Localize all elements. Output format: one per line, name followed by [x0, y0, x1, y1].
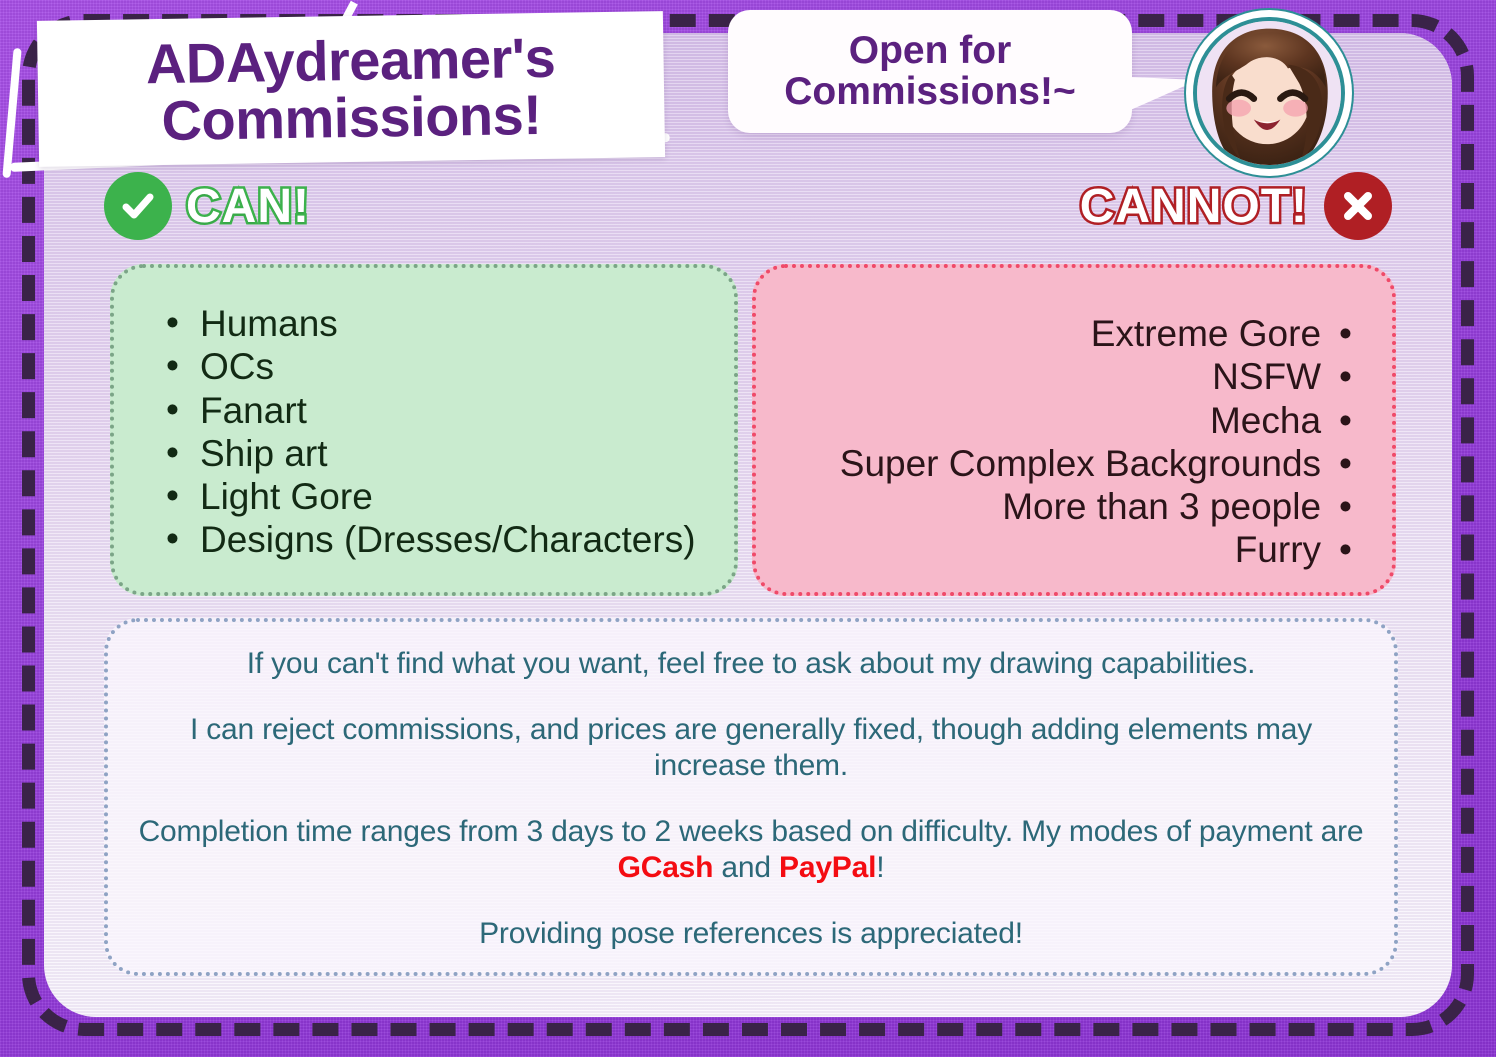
can-section-header: CAN! [104, 172, 310, 240]
list-item: OCs [156, 345, 734, 388]
page-title-line-2: Commissions! [146, 86, 556, 150]
page-title: ADAydreamer's Commissions! [145, 29, 556, 150]
speech-bubble-tail [1108, 76, 1198, 120]
list-item: Humans [156, 302, 734, 345]
list-item: Ship art [156, 432, 734, 475]
title-banner: ADAydreamer's Commissions! [37, 11, 665, 167]
list-item: NSFW [756, 355, 1352, 398]
cannot-list: Extreme Gore NSFW Mecha Super Complex Ba… [756, 312, 1352, 572]
note-payment: Completion time ranges from 3 days to 2 … [134, 814, 1368, 886]
list-item: Fanart [156, 389, 734, 432]
note-references: Providing pose references is appreciated… [134, 916, 1368, 952]
note-availability: If you can't find what you want, feel fr… [134, 646, 1368, 682]
note-payment-part-2: and [713, 851, 779, 884]
list-item: Designs (Dresses/Characters) [156, 518, 734, 561]
payment-method-paypal: PayPal [779, 851, 876, 884]
commission-sheet: ADAydreamer's Commissions! Open for Comm… [0, 0, 1496, 1057]
note-payment-part-3: ! [876, 851, 884, 884]
status-speech-bubble: Open for Commissions!~ [728, 10, 1132, 133]
cannot-section-header: CANNOT! [1080, 172, 1392, 240]
can-header-label: CAN! [186, 179, 310, 234]
can-list: Humans OCs Fanart Ship art Light Gore De… [156, 302, 734, 562]
list-item: Mecha [756, 399, 1352, 442]
list-item: Furry [756, 528, 1352, 571]
check-circle-icon [104, 172, 172, 240]
list-item: Extreme Gore [756, 312, 1352, 355]
list-item: Super Complex Backgrounds [756, 442, 1352, 485]
terms-notes-panel: If you can't find what you want, feel fr… [104, 618, 1398, 976]
cannot-header-label: CANNOT! [1080, 179, 1308, 234]
avatar-illustration [1197, 21, 1341, 165]
page-title-line-1: ADAydreamer's [145, 29, 555, 93]
note-pricing: I can reject commissions, and prices are… [134, 712, 1368, 784]
note-payment-part-1: Completion time ranges from 3 days to 2 … [139, 815, 1364, 848]
status-badge: Open for Commissions!~ [784, 31, 1076, 113]
payment-method-gcash: GCash [618, 851, 714, 884]
avatar [1193, 17, 1345, 169]
status-line-1: Open for [784, 31, 1076, 72]
x-circle-icon [1324, 172, 1392, 240]
status-line-2: Commissions!~ [784, 72, 1076, 113]
brush-stroke-decoration [2, 48, 21, 178]
can-list-panel: Humans OCs Fanart Ship art Light Gore De… [110, 264, 738, 596]
list-item: More than 3 people [756, 485, 1352, 528]
cannot-list-panel: Extreme Gore NSFW Mecha Super Complex Ba… [752, 264, 1396, 596]
list-item: Light Gore [156, 475, 734, 518]
